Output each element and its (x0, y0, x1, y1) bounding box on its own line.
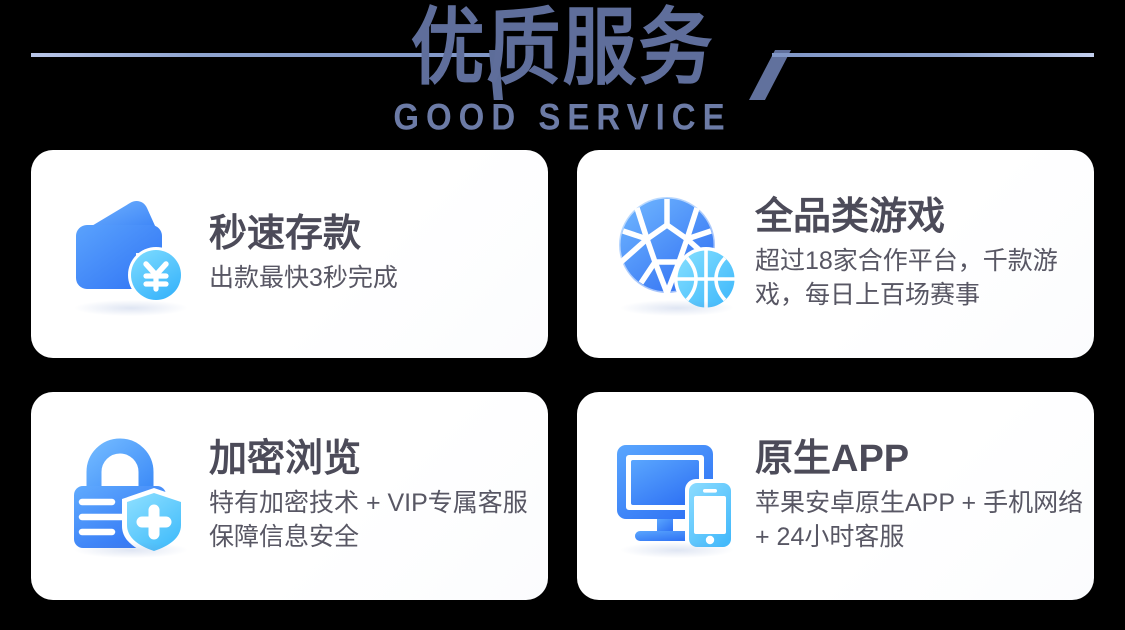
card-description: 特有加密技术 + VIP专属客服保障信息安全 (209, 486, 539, 554)
card-text-block: 全品类游戏 超过18家合作平台，千款游戏，每日上百场赛事 (747, 196, 1094, 313)
feature-card-encryption[interactable]: 加密浏览 特有加密技术 + VIP专属客服保障信息安全 (31, 392, 548, 600)
feature-card-games[interactable]: 全品类游戏 超过18家合作平台，千款游戏，每日上百场赛事 (577, 150, 1094, 358)
lock-shield-icon (61, 426, 201, 566)
feature-card-native-app[interactable]: 原生APP 苹果安卓原生APP + 手机网络 + 24小时客服 (577, 392, 1094, 600)
wallet-yen-svg (68, 194, 194, 314)
feature-card-grid: 秒速存款 出款最快3秒完成 (31, 150, 1094, 600)
card-title: 原生APP (755, 438, 1085, 481)
card-description: 出款最快3秒完成 (209, 261, 398, 295)
monitor-phone-svg (613, 441, 741, 551)
card-title: 秒速存款 (209, 213, 398, 256)
lock-shield-svg (68, 434, 194, 558)
card-text-block: 原生APP 苹果安卓原生APP + 手机网络 + 24小时客服 (747, 438, 1085, 555)
card-title: 全品类游戏 (755, 196, 1094, 239)
page-root: 优质服务 GOOD SERVICE (0, 0, 1125, 630)
card-text-block: 加密浏览 特有加密技术 + VIP专属客服保障信息安全 (201, 438, 539, 555)
card-title: 加密浏览 (209, 438, 539, 481)
card-text-block: 秒速存款 出款最快3秒完成 (201, 213, 398, 296)
page-subtitle: GOOD SERVICE (0, 98, 1125, 135)
feature-card-deposit[interactable]: 秒速存款 出款最快3秒完成 (31, 150, 548, 358)
wallet-yen-icon (61, 184, 201, 324)
soccer-basketball-icon (607, 184, 747, 324)
page-title: 优质服务 (0, 6, 1125, 90)
monitor-phone-icon (607, 426, 747, 566)
card-description: 苹果安卓原生APP + 手机网络 + 24小时客服 (755, 486, 1085, 554)
page-header: 优质服务 GOOD SERVICE (0, 0, 1125, 140)
soccer-basketball-svg (611, 191, 743, 317)
card-description: 超过18家合作平台，千款游戏，每日上百场赛事 (755, 244, 1094, 312)
